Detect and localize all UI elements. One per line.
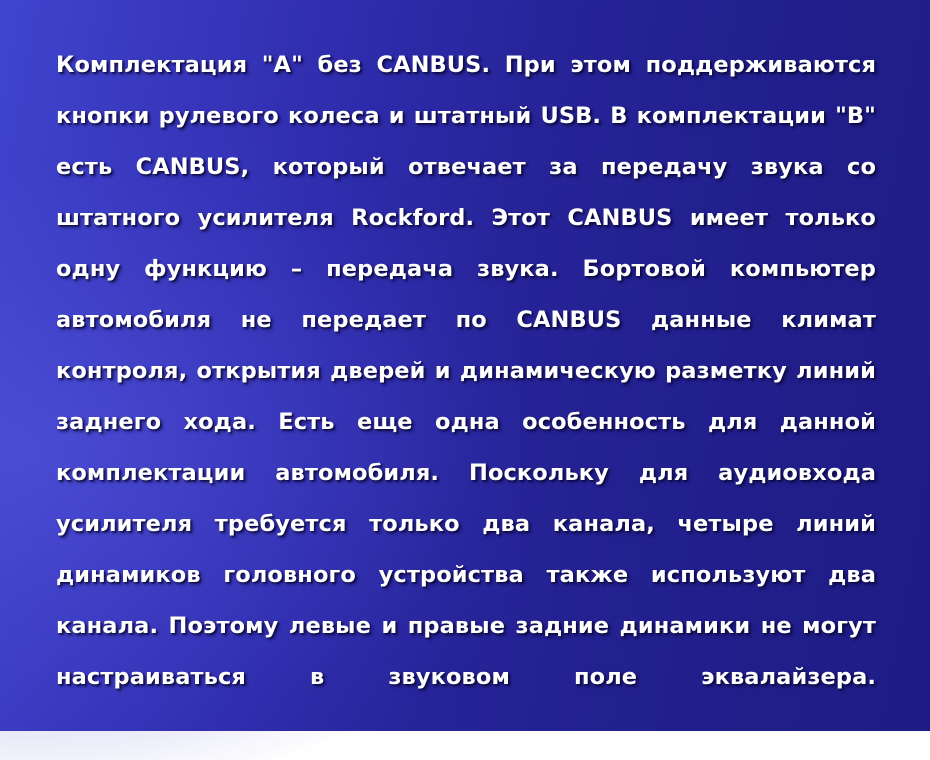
body-paragraph: Комплектация "А" без CANBUS. При этом по… — [56, 40, 876, 754]
text-block: Комплектация "А" без CANBUS. При этом по… — [56, 40, 876, 754]
slide-canvas: Комплектация "А" без CANBUS. При этом по… — [0, 0, 930, 731]
